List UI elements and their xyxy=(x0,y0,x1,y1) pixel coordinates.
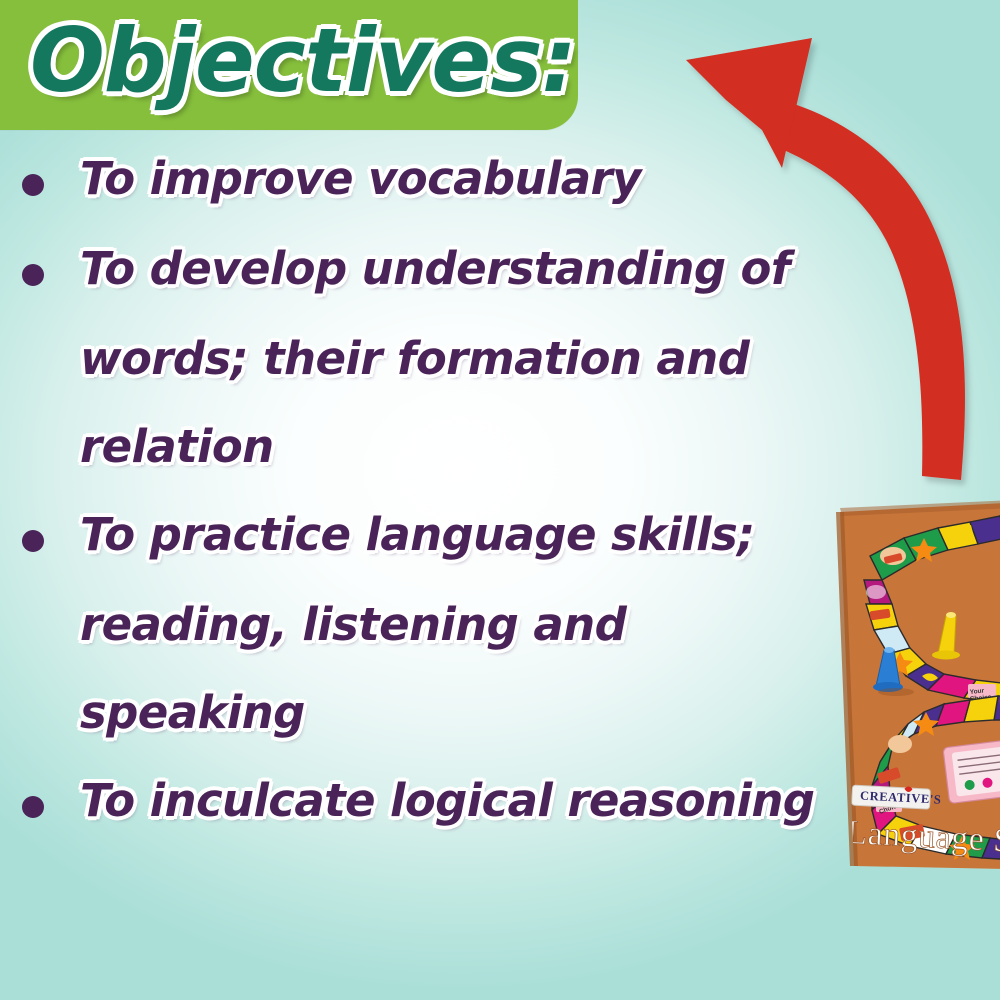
board-game-image: FINISH Your Choice xyxy=(818,498,1000,878)
list-item-continuation: speaking xyxy=(0,682,860,744)
list-item: To inculcate logical reasoning xyxy=(0,770,860,832)
list-item: To develop understanding of xyxy=(0,238,860,300)
list-item-continuation: words; their formation and xyxy=(0,328,860,390)
list-item-label: To improve vocabulary xyxy=(80,148,860,210)
list-item: To practice language skills; xyxy=(0,504,860,566)
bullet-dot-icon xyxy=(22,530,44,552)
list-item-continuation: reading, listening and xyxy=(0,594,860,656)
list-item-label: To develop understanding of xyxy=(80,238,860,300)
objectives-list: To improve vocabulary To develop underst… xyxy=(0,148,860,860)
bullet-dot-icon xyxy=(22,796,44,818)
list-item-label: speaking xyxy=(80,682,860,744)
list-item-label: To practice language skills; xyxy=(80,504,860,566)
bullet-dot-icon xyxy=(22,174,44,196)
list-item: To improve vocabulary xyxy=(0,148,860,210)
list-item-label: relation xyxy=(80,416,860,478)
list-item-label: To inculcate logical reasoning xyxy=(80,770,860,832)
page-title: Objectives: xyxy=(30,2,590,122)
list-item-label: reading, listening and xyxy=(80,594,860,656)
bullet-dot-icon xyxy=(22,264,44,286)
list-item-label: words; their formation and xyxy=(80,328,860,390)
objectives-slide: Objectives: To improve vocabulary To dev… xyxy=(0,0,1000,1000)
list-item-continuation: relation xyxy=(0,416,860,478)
